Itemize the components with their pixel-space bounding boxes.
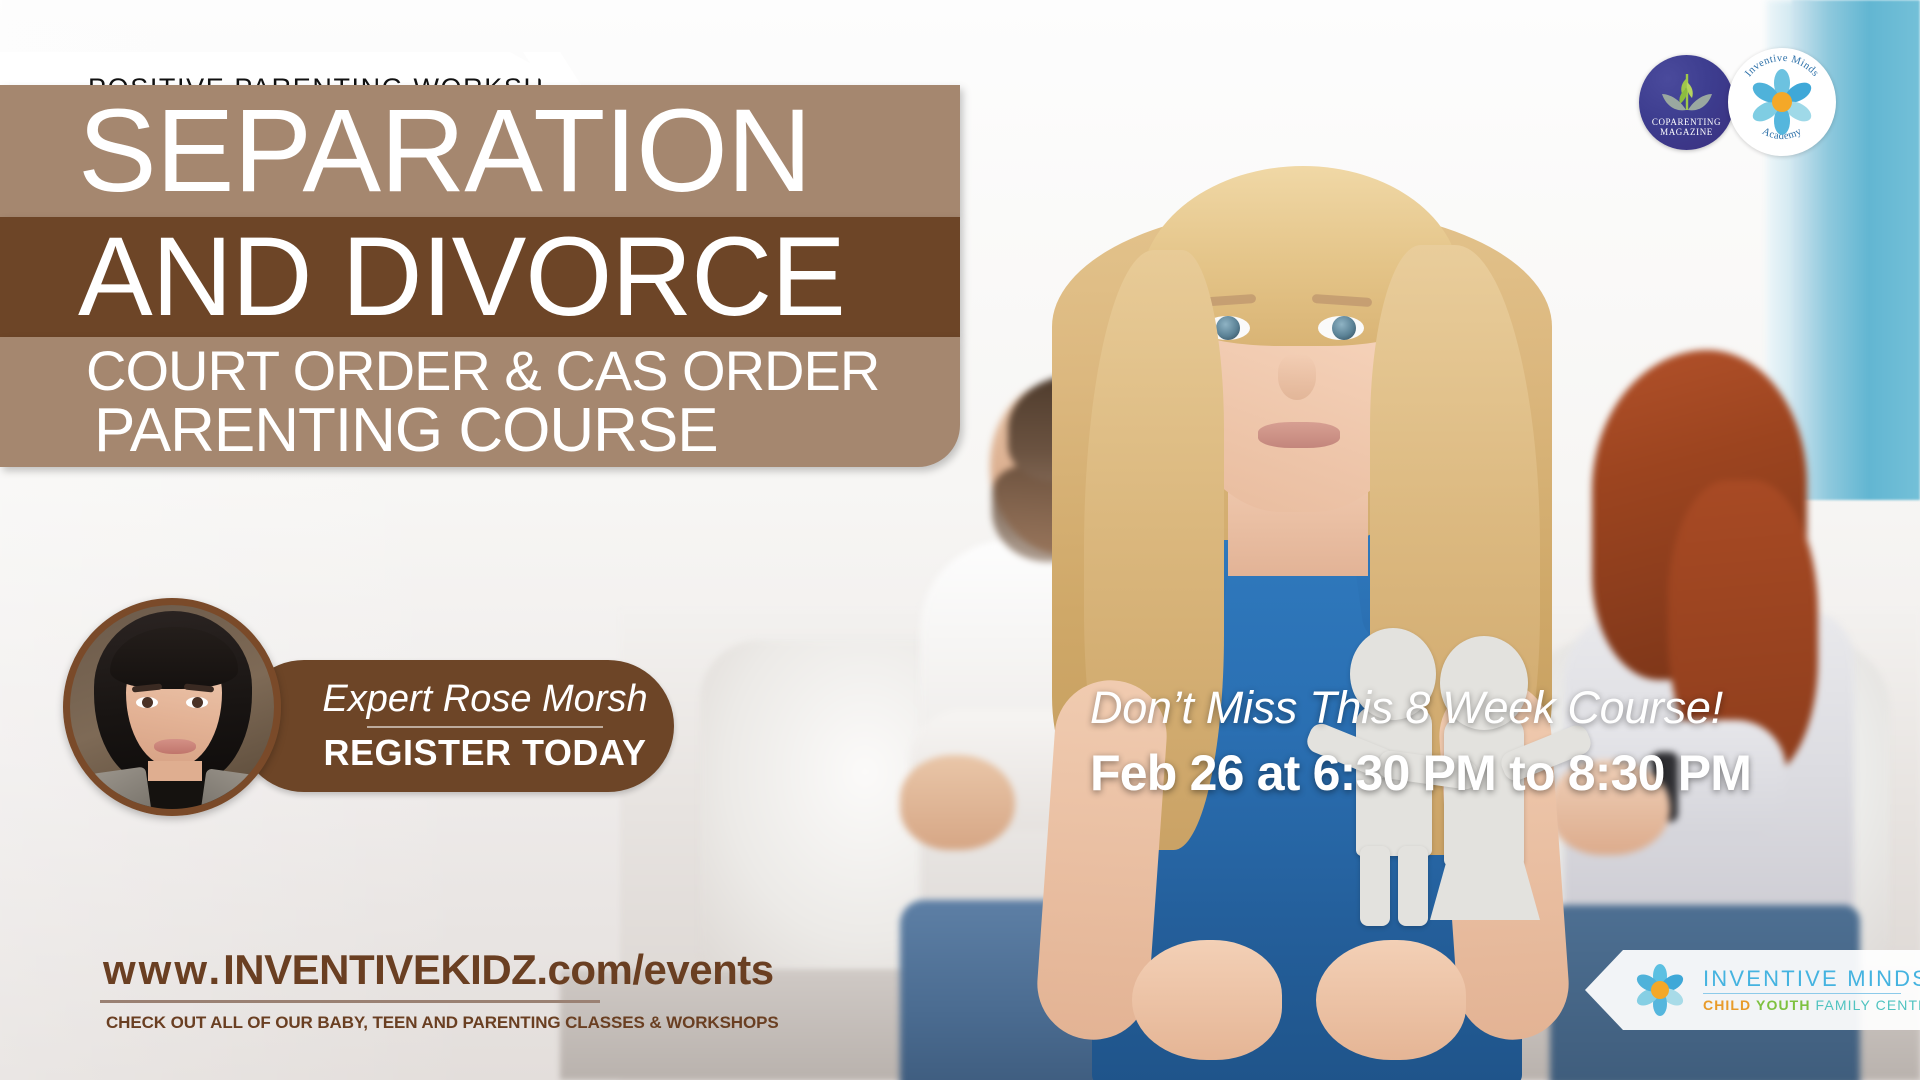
inventive-minds-academy-logo: Inventive Minds Academy [1728, 48, 1836, 156]
headline-line-3: COURT ORDER & CAS ORDER [86, 342, 879, 399]
banner-sub-child: CHILD [1703, 997, 1751, 1013]
banner-sub-youth: YOUTH [1756, 997, 1811, 1013]
headline-band-subtitle: COURT ORDER & CAS ORDER PARENTING COURSE [0, 337, 960, 467]
headline-line-1: SEPARATION [78, 92, 811, 210]
coparenting-line-2: MAGAZINE [1660, 127, 1713, 137]
url-domain: INVENTIVEKIDZ [223, 946, 536, 993]
coparenting-magazine-logo: COPARENTING MAGAZINE [1639, 55, 1734, 150]
flower-center [1772, 92, 1792, 112]
url-path: .com/events [536, 946, 773, 993]
website-url[interactable]: www.INVENTIVEKIDZ.com/events [103, 946, 774, 994]
flower-center [1651, 981, 1669, 999]
event-details: Don’t Miss This 8 Week Course! Feb 26 at… [1090, 682, 1790, 802]
url-divider [100, 1000, 600, 1003]
flower-icon [1629, 959, 1691, 1021]
coparenting-line-1: COPARENTING [1652, 117, 1721, 127]
speaker-name: Expert Rose Morsh [322, 678, 647, 721]
headline-band-separation: SEPARATION [0, 85, 960, 217]
headline-band-divorce: AND DIVORCE [0, 217, 960, 337]
event-hook: Don’t Miss This 8 Week Course! [1090, 682, 1790, 734]
speaker-avatar [63, 598, 281, 816]
register-cta-label: REGISTER TODAY [323, 732, 646, 774]
headline-line-4: PARENTING COURSE [94, 399, 718, 462]
url-prefix: www. [103, 946, 223, 993]
pill-divider [367, 726, 603, 728]
poster-canvas: POSITIVE PARENTING WORKSHOP SEPARATION A… [0, 0, 1920, 1080]
banner-text-group: INVENTIVE MINDS CHILD YOUTH FAMILY CENTE… [1703, 967, 1920, 1012]
banner-sub-family: FAMILY CENTER [1816, 997, 1920, 1013]
website-tagline: CHECK OUT ALL OF OUR BABY, TEEN AND PARE… [106, 1013, 779, 1033]
banner-subtitle: CHILD YOUTH FAMILY CENTER [1703, 997, 1920, 1013]
headline-line-2: AND DIVORCE [78, 221, 845, 333]
event-datetime: Feb 26 at 6:30 PM to 8:30 PM [1090, 744, 1790, 802]
inventive-minds-banner-logo: INVENTIVE MINDS CHILD YOUTH FAMILY CENTE… [1585, 950, 1920, 1030]
banner-divider [1703, 993, 1901, 994]
register-today-button[interactable]: Expert Rose Morsh REGISTER TODAY [238, 660, 674, 792]
plant-leaves-icon [1658, 68, 1716, 114]
banner-title: INVENTIVE MINDS [1703, 967, 1920, 990]
foreground-girl [1040, 70, 1560, 1080]
